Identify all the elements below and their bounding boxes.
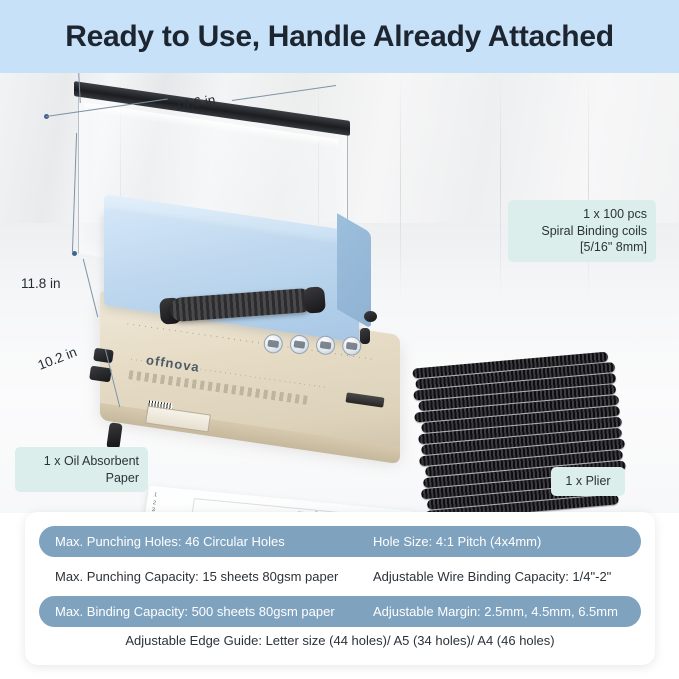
oil-paper-callout-line: Paper bbox=[24, 470, 139, 487]
spec-right: Hole Size: 4:1 Pitch (4x4mm) bbox=[369, 534, 641, 549]
product-infographic: Ready to Use, Handle Already Attached bbox=[0, 0, 679, 679]
oil-paper-row-numbers: 1 2 3 4 5 6 7 8 9 bbox=[145, 492, 167, 513]
dimension-label-height: 11.8 in bbox=[21, 276, 61, 291]
spec-row: Max. Punching Holes: 46 Circular Holes H… bbox=[39, 526, 641, 557]
specs-card: Max. Punching Holes: 46 Circular Holes H… bbox=[25, 512, 655, 665]
spec-row: Max. Binding Capacity: 500 sheets 80gsm … bbox=[39, 596, 641, 627]
spec-footer: Adjustable Edge Guide: Letter size (44 h… bbox=[39, 633, 641, 648]
page-title: Ready to Use, Handle Already Attached bbox=[0, 20, 679, 54]
oil-paper-callout: 1 x Oil Absorbent Paper bbox=[15, 447, 148, 492]
handle-cap-right bbox=[303, 286, 326, 313]
spec-left: Max. Punching Holes: 46 Circular Holes bbox=[39, 534, 369, 549]
feature-badge-icon bbox=[289, 334, 311, 356]
coils-callout-line: 1 x 100 pcs bbox=[517, 206, 647, 223]
oil-paper-number: 1 bbox=[154, 492, 167, 499]
margin-selector bbox=[360, 328, 370, 344]
plier-callout: 1 x Plier bbox=[551, 467, 625, 496]
margin-dial bbox=[364, 311, 377, 322]
product-photo-scene: offnova 14.6 in 11.8 in 10.2 in bbox=[0, 73, 679, 513]
spec-left: Max. Binding Capacity: 500 sheets 80gsm … bbox=[39, 604, 369, 619]
coils-callout-line: Spiral Binding coils bbox=[517, 223, 647, 240]
spec-right: Adjustable Wire Binding Capacity: 1/4"-2… bbox=[369, 569, 641, 584]
header-band: Ready to Use, Handle Already Attached bbox=[0, 0, 679, 73]
oil-paper-number: 2 bbox=[152, 500, 165, 507]
plier-callout-line: 1 x Plier bbox=[560, 473, 616, 490]
side-knob bbox=[93, 348, 114, 364]
feature-badge-icon bbox=[263, 333, 285, 355]
coils-callout: 1 x 100 pcs Spiral Binding coils [5/16" … bbox=[508, 200, 656, 262]
feature-badge-icon bbox=[315, 335, 337, 357]
edge-guide-lever bbox=[106, 422, 122, 450]
oil-paper-callout-line: 1 x Oil Absorbent bbox=[24, 453, 139, 470]
coils-callout-line: [5/16" 8mm] bbox=[517, 239, 647, 256]
spec-left: Max. Punching Capacity: 15 sheets 80gsm … bbox=[39, 569, 369, 584]
spec-row: Max. Punching Capacity: 15 sheets 80gsm … bbox=[39, 561, 641, 592]
side-knob bbox=[89, 366, 112, 383]
spec-right: Adjustable Margin: 2.5mm, 4.5mm, 6.5mm bbox=[369, 604, 641, 619]
